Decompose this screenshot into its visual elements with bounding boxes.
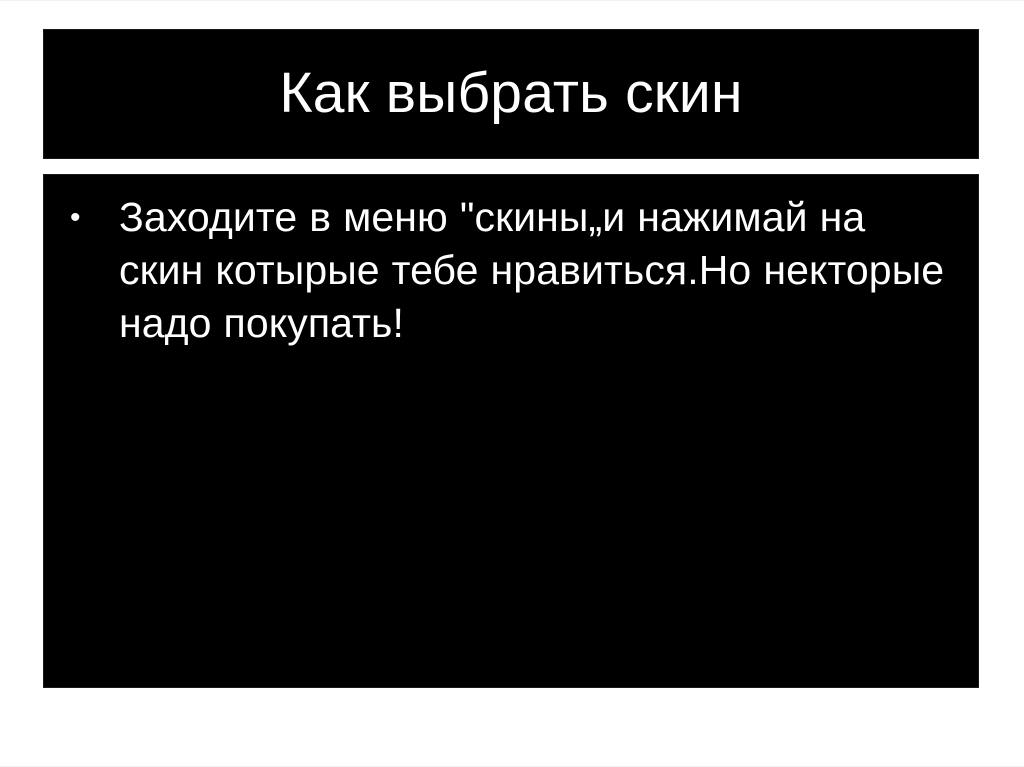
page-top-edge: [0, 0, 1024, 1]
slide-title: Как выбрать скин: [279, 64, 742, 124]
list-item[interactable]: • Заходите в меню "скины„и нажимай на ск…: [66, 191, 952, 350]
bullet-marker-icon: •: [70, 191, 110, 244]
bullet-text: Заходите в меню "скины„и нажимай на скин…: [119, 191, 952, 350]
title-placeholder-box[interactable]: Как выбрать скин: [44, 30, 978, 158]
content-placeholder-box[interactable]: • Заходите в меню "скины„и нажимай на ск…: [44, 175, 978, 687]
bullet-list: • Заходите в меню "скины„и нажимай на ск…: [66, 191, 952, 350]
slide-canvas: Как выбрать скин • Заходите в меню "скин…: [0, 0, 1024, 767]
